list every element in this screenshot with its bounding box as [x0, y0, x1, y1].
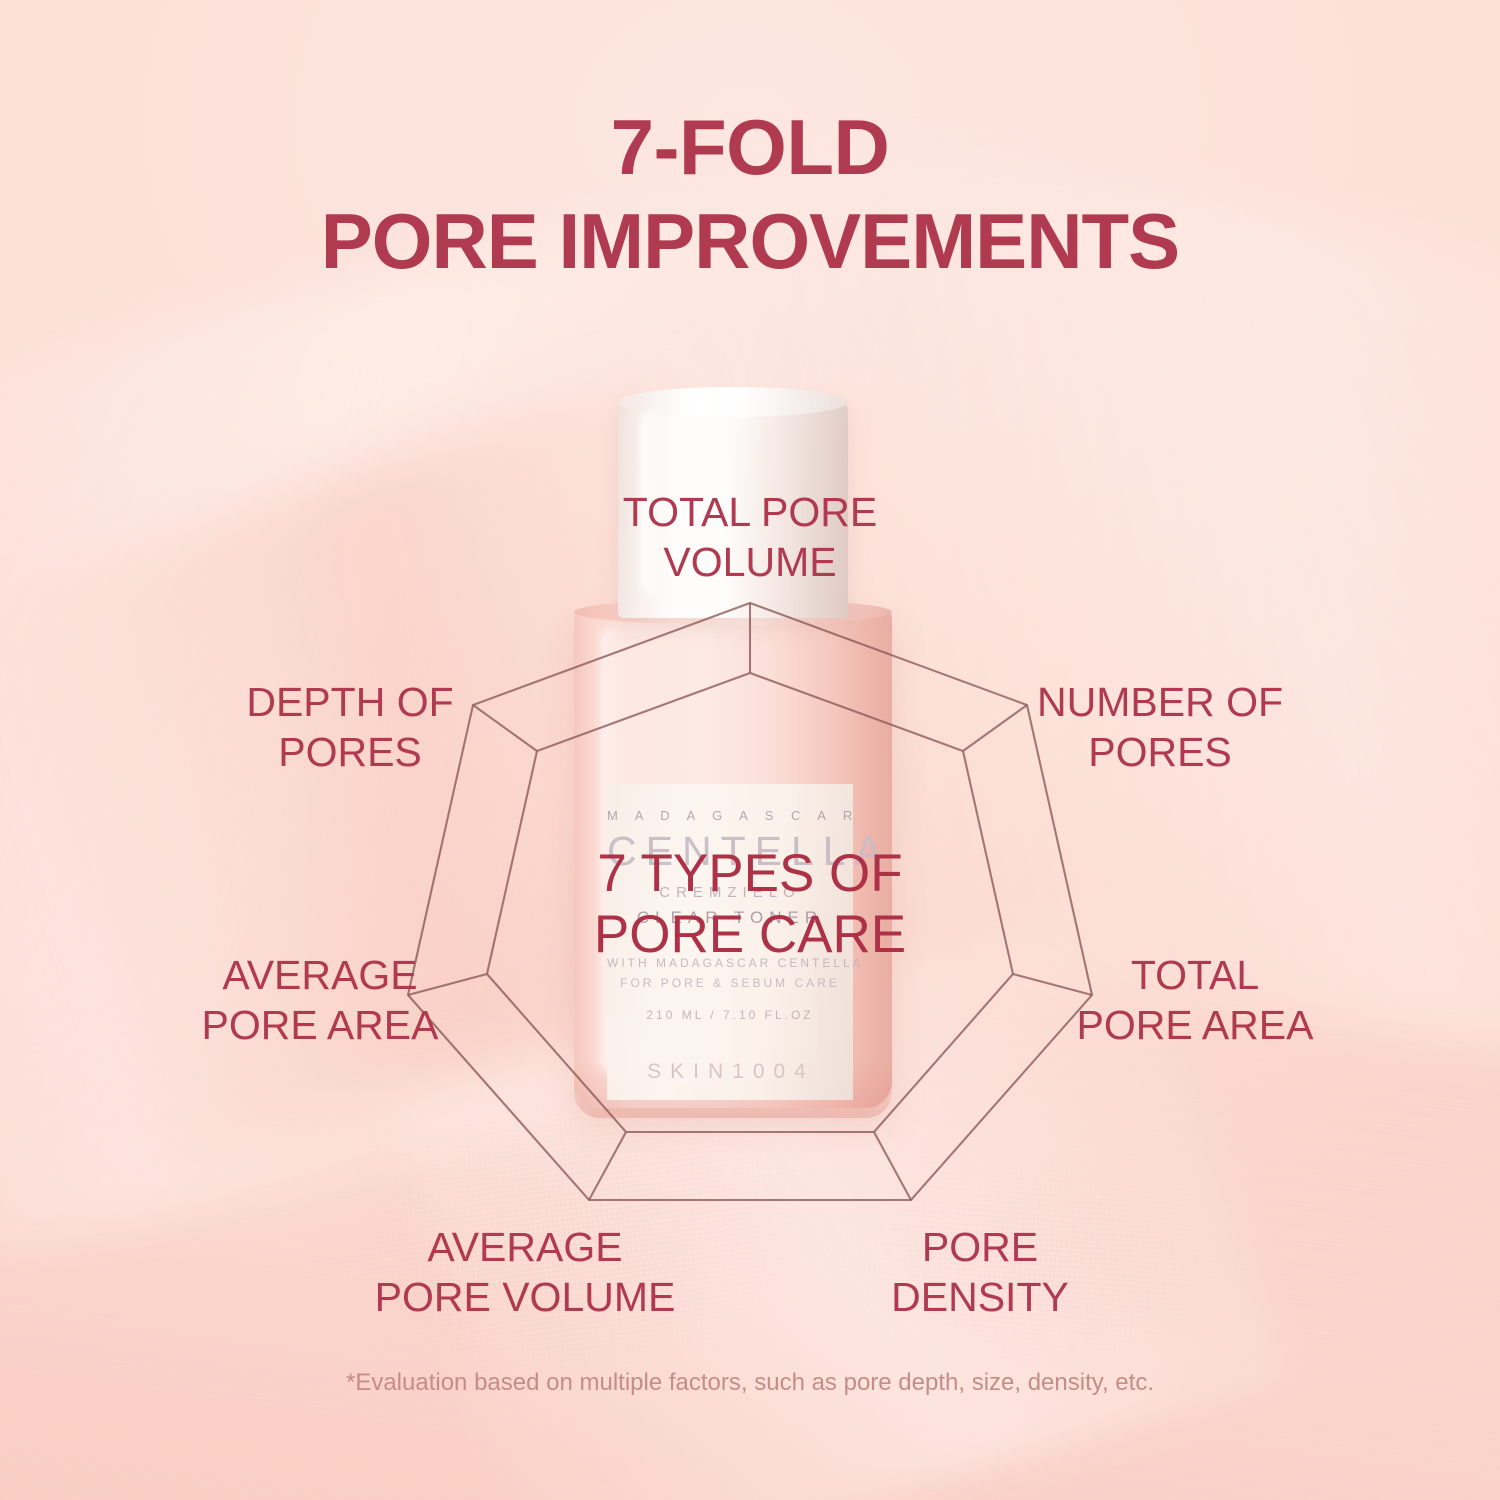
bottle-brandmark: SKIN1004 — [566, 1060, 896, 1084]
vertex-label-number-of-pores: NUMBER OF PORES — [985, 677, 1335, 777]
vertex-label-total-pore-area: TOTAL PORE AREA — [1025, 950, 1365, 1050]
vertex-label-total-pore-volume: TOTAL PORE VOLUME — [525, 487, 975, 587]
vertex-label-pore-density: PORE DENSITY — [830, 1222, 1130, 1322]
vertex-label-average-pore-area: AVERAGE PORE AREA — [150, 950, 490, 1050]
infographic-canvas: M A D A G A S C A R CENTELLA CREMZIELO C… — [0, 0, 1500, 1500]
vertex-label-depth-of-pores: DEPTH OF PORES — [180, 677, 520, 777]
vertex-label-average-pore-volume: AVERAGE PORE VOLUME — [345, 1222, 705, 1322]
page-title: 7-FOLD PORE IMPROVEMENTS — [0, 108, 1500, 280]
page-title-line-1: 7-FOLD — [0, 108, 1500, 186]
label-brand-origin: M A D A G A S C A R — [607, 808, 853, 823]
disclaimer-text: *Evaluation based on multiple factors, s… — [0, 1369, 1500, 1397]
label-volume: 210 ML / 7.10 FL.OZ — [607, 1008, 853, 1022]
label-description-2: FOR PORE & SEBUM CARE — [607, 976, 853, 990]
diagram-center-label: 7 TYPES OF PORE CARE — [450, 843, 1050, 966]
page-title-line-2: PORE IMPROVEMENTS — [0, 202, 1500, 280]
